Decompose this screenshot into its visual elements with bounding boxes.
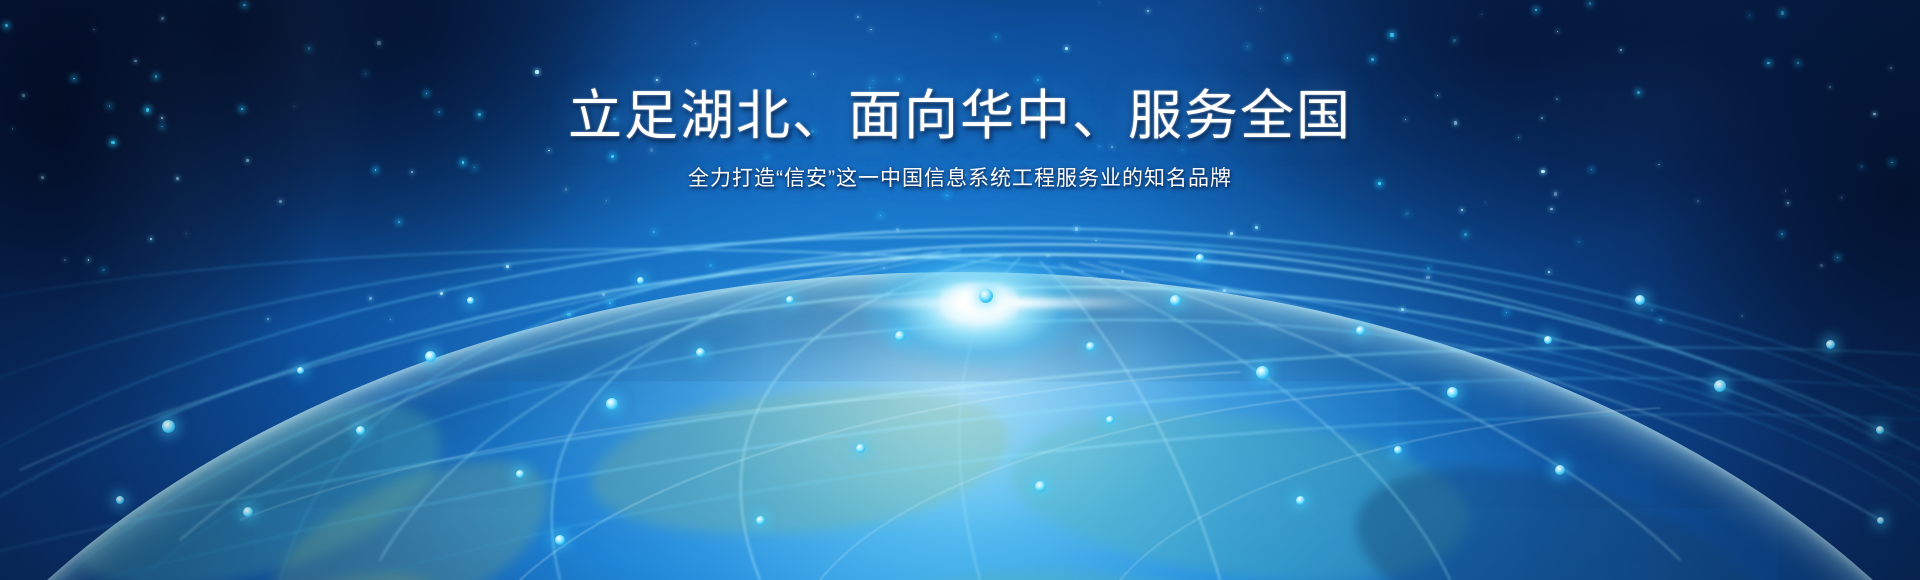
network-node-icon [1877, 517, 1884, 524]
network-node-icon [786, 296, 794, 304]
light-burst-core [940, 282, 1018, 322]
network-node-icon [1714, 380, 1726, 392]
network-node-icon [895, 331, 905, 341]
network-node-icon [637, 277, 644, 284]
network-node-icon [1086, 342, 1095, 351]
network-node-icon [1876, 426, 1884, 434]
network-node-icon [356, 426, 365, 435]
network-node-icon [1826, 340, 1835, 349]
banner-copy: 立足湖北、面向华中、服务全国 全力打造“信安”这一中国信息系统工程服务业的知名品… [0, 86, 1920, 194]
network-node-icon [243, 507, 253, 517]
network-node-icon [555, 535, 565, 545]
network-node-icon [425, 351, 436, 362]
network-node-icon [467, 297, 474, 304]
network-node-icon [1447, 387, 1458, 398]
network-node-icon [1555, 465, 1565, 475]
network-node-icon [1196, 254, 1204, 262]
network-node-icon [116, 496, 124, 504]
hero-banner: 立足湖北、面向华中、服务全国 全力打造“信安”这一中国信息系统工程服务业的知名品… [0, 0, 1920, 580]
network-node-icon [1544, 336, 1552, 344]
network-node-icon [516, 470, 524, 478]
network-node-icon [856, 444, 865, 453]
network-node-icon [606, 398, 618, 410]
network-node-icon [756, 516, 765, 525]
network-node-icon [162, 420, 175, 433]
network-node-icon [297, 367, 304, 374]
network-node-icon [696, 348, 705, 357]
network-node-icon [979, 289, 993, 303]
network-node-icon [1170, 295, 1181, 306]
network-node-icon [1394, 446, 1402, 454]
network-node-icon [1296, 496, 1305, 505]
network-node-icon [1035, 481, 1046, 492]
network-node-icon [1635, 295, 1645, 305]
network-node-icon [1356, 326, 1365, 335]
banner-subheadline: 全力打造“信安”这一中国信息系统工程服务业的知名品牌 [0, 164, 1920, 193]
banner-headline: 立足湖北、面向华中、服务全国 [0, 86, 1920, 146]
network-node-icon [1256, 366, 1269, 379]
network-node-icon [1106, 416, 1114, 424]
